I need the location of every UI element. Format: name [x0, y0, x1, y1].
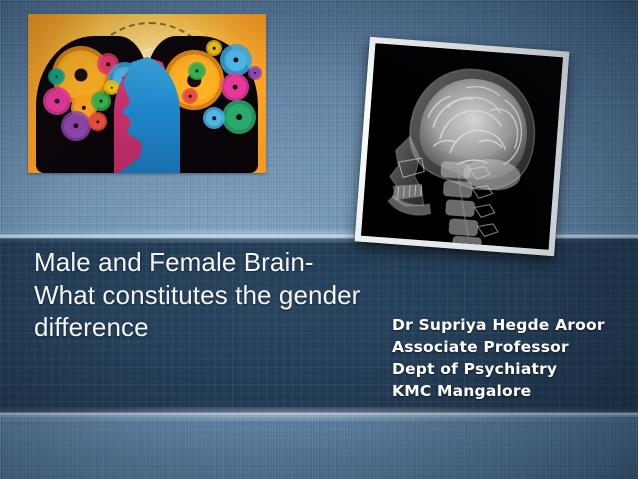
gear-magenta-left: [46, 90, 68, 112]
gear-magenta-right: [224, 76, 246, 98]
xray-skull-illustration: [361, 43, 563, 250]
gear-teal-left: [50, 70, 63, 83]
skull-brain-xray-photo: [355, 37, 570, 256]
gear-green-small-right: [190, 64, 204, 78]
accent-band-bottom: [0, 412, 638, 417]
presenter-institution: KMC Mangalore: [392, 380, 636, 402]
gear-cyan-right: [206, 110, 222, 126]
gear-purple-left: [64, 114, 88, 138]
presenter-credits: Dr Supriya Hegde Aroor Associate Profess…: [392, 314, 636, 402]
gear-green-right: [226, 104, 252, 130]
gear-blue-right: [224, 48, 248, 72]
gear-yellow-right: [208, 42, 220, 54]
gear-yellow-left: [106, 82, 117, 93]
gear-green-left: [94, 94, 108, 108]
gears-heads-illustration: [28, 14, 266, 173]
presenter-designation: Associate Professor: [392, 336, 636, 358]
gear-purple-right: [250, 68, 260, 78]
presentation-slide: Male and Female Brain- What constitutes …: [0, 0, 638, 479]
gear-pink-small-left: [100, 56, 116, 72]
gear-red-left: [90, 114, 105, 129]
presenter-department: Dept of Psychiatry: [392, 358, 636, 380]
xray-image-area: [361, 43, 563, 250]
page-title: Male and Female Brain- What constitutes …: [34, 246, 414, 344]
presenter-name: Dr Supriya Hegde Aroor: [392, 314, 636, 336]
gear-red-right: [184, 90, 196, 102]
